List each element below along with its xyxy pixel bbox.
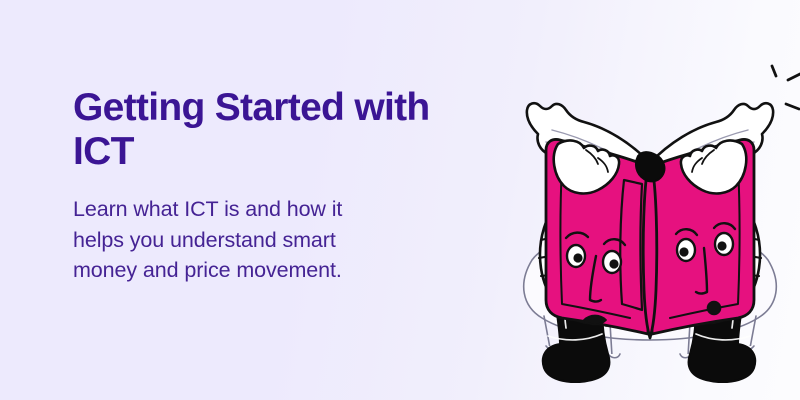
hero-illustration <box>500 38 800 383</box>
page-subtitle: Learn what ICT is and how it helps you u… <box>73 173 473 286</box>
motion-dashes <box>772 66 800 109</box>
book-spine <box>643 166 657 338</box>
hero-banner: Getting Started with ICT Learn what ICT … <box>0 0 800 400</box>
reading-character-illustration <box>500 38 800 383</box>
page-title: Getting Started with ICT <box>73 86 473 173</box>
text-column: Getting Started with ICT Learn what ICT … <box>73 86 473 286</box>
